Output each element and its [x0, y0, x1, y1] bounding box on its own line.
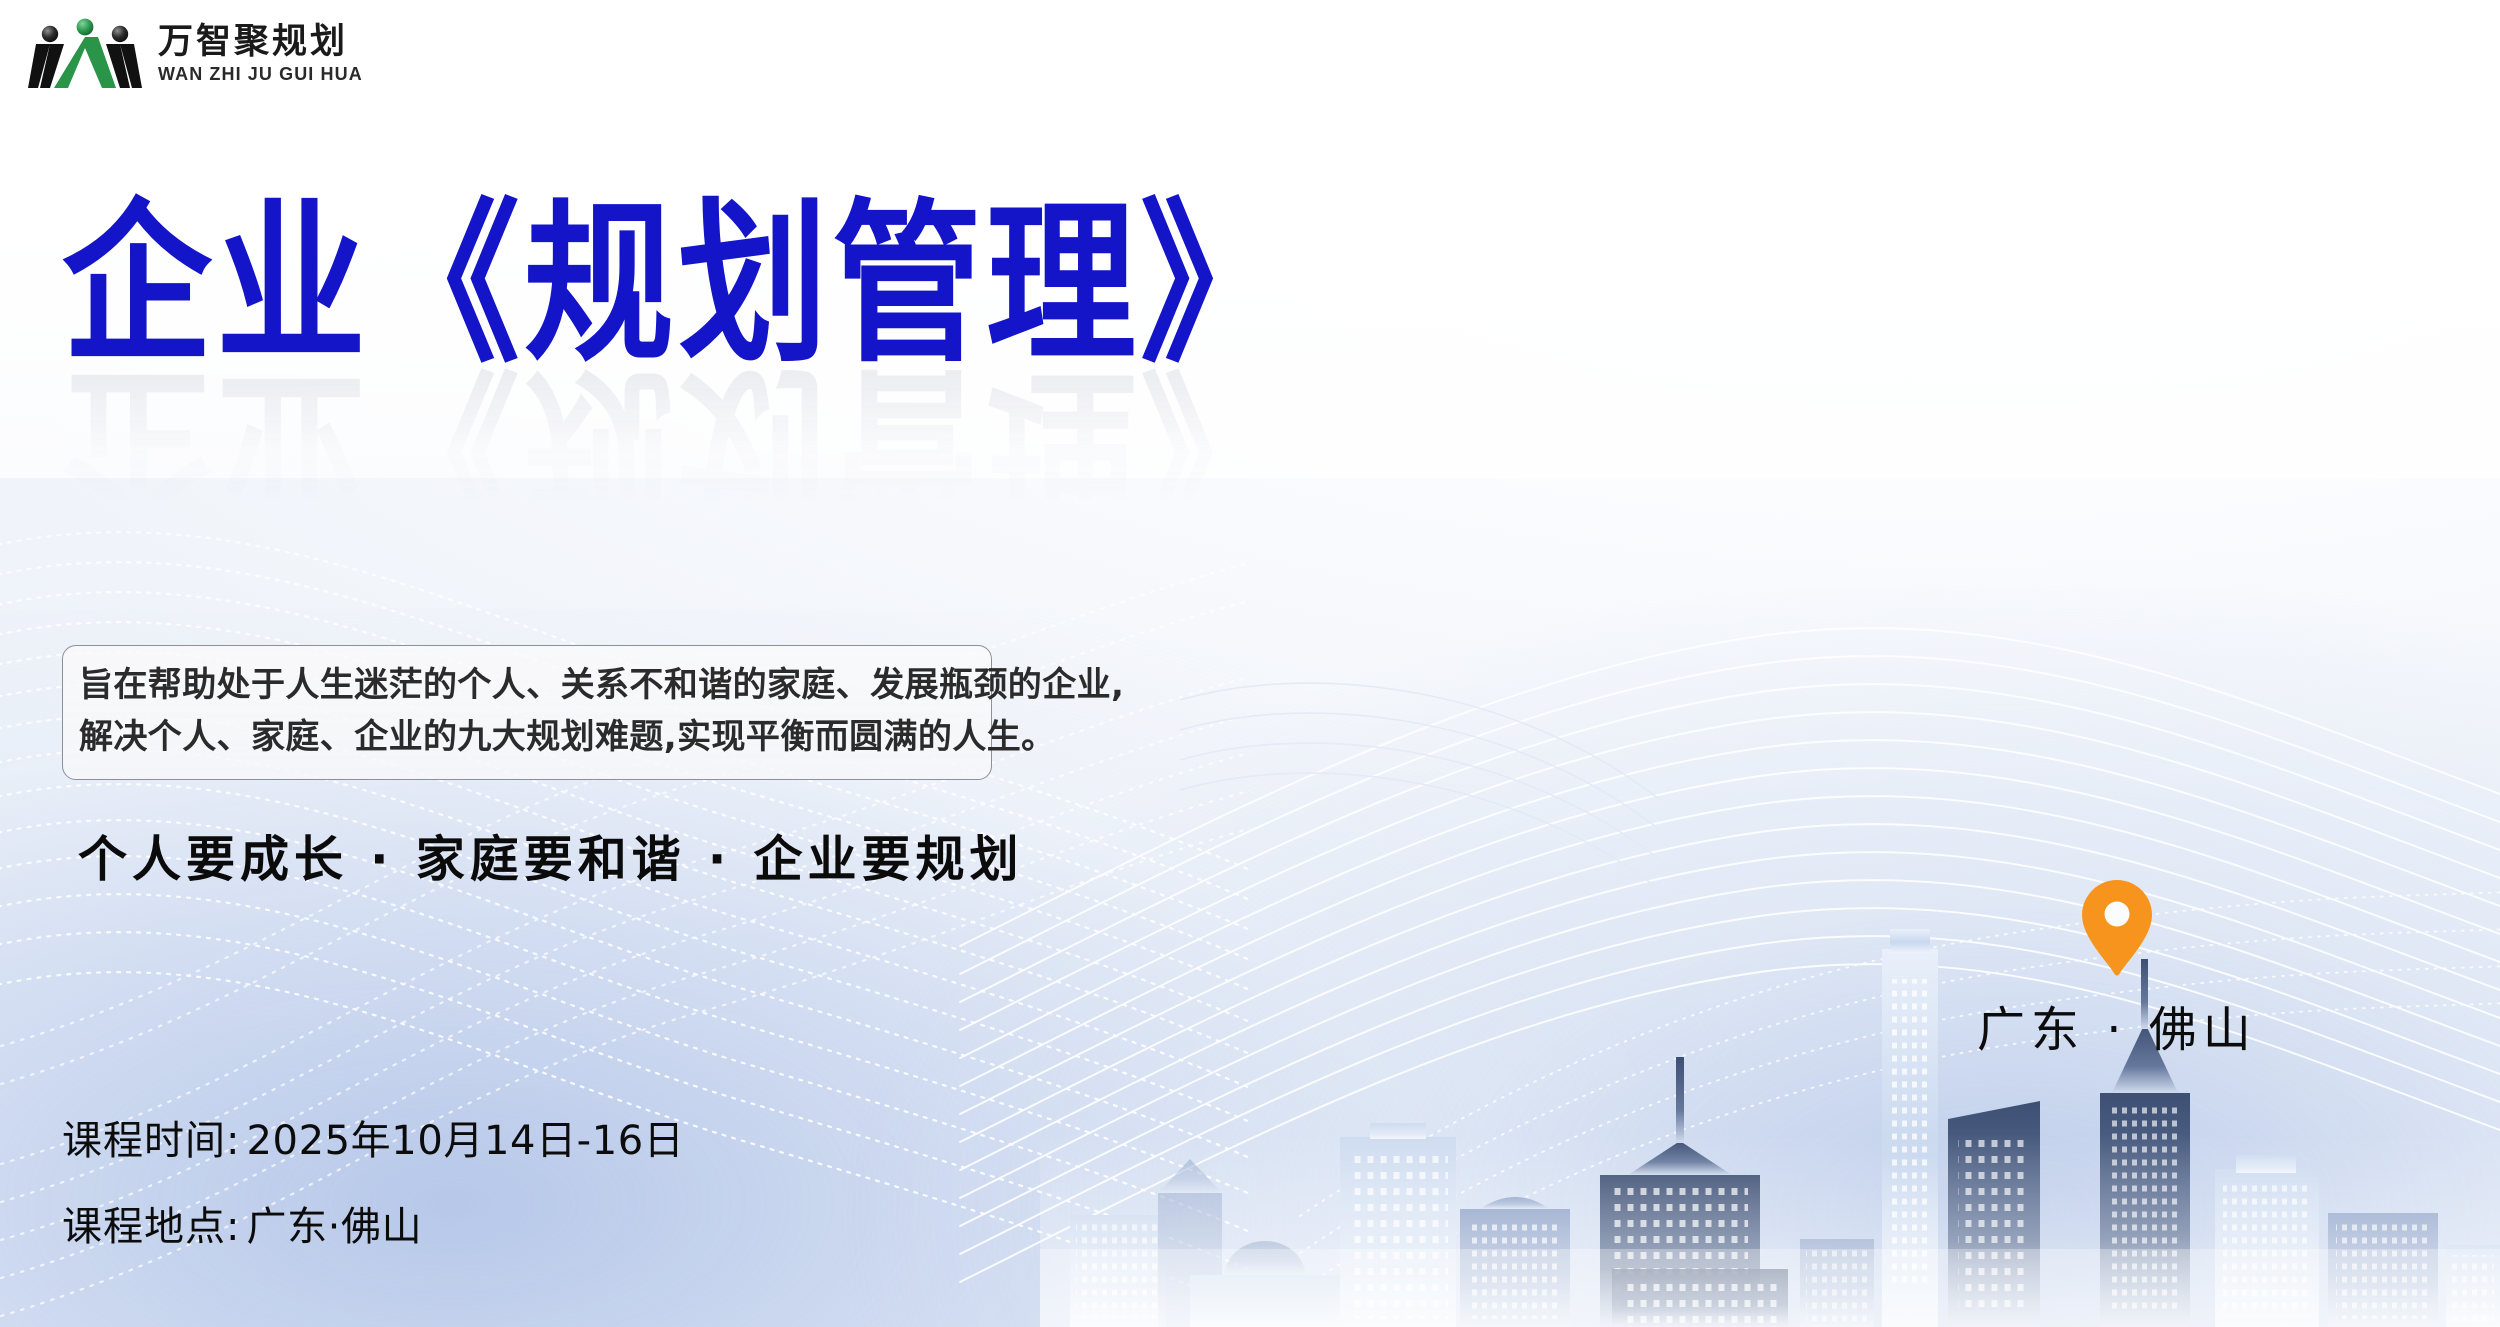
description-box: 旨在帮助处于人生迷茫的个人、关系不和谐的家庭、发展瓶颈的企业, 解决个人、家庭、… — [62, 645, 992, 780]
course-time-row: 课程时间: 2025年10月14日-16日 — [62, 1108, 684, 1166]
brand-wordmark: 万智聚规划 WAN ZHI JU GUI HUA — [158, 19, 363, 86]
course-place-row: 课程地点: 广东·佛山 — [62, 1194, 684, 1252]
course-place-value: 广东·佛山 — [246, 1194, 422, 1252]
description-line-1: 旨在帮助处于人生迷茫的个人、关系不和谐的家庭、发展瓶颈的企业, — [79, 660, 975, 712]
description-line-2: 解决个人、家庭、企业的九大规划难题,实现平衡而圆满的人生。 — [79, 712, 975, 764]
course-info: 课程时间: 2025年10月14日-16日 课程地点: 广东·佛山 — [62, 1108, 684, 1252]
course-place-label: 课程地点: — [62, 1194, 240, 1252]
course-time-value: 2025年10月14日-16日 — [246, 1108, 684, 1166]
brand-logo[interactable]: 万智聚规划 WAN ZHI JU GUI HUA — [26, 14, 363, 92]
page-title-reflection: 企业《规划管理》 — [62, 358, 1294, 535]
three-people-group-icon — [26, 14, 144, 92]
tagline: 个人要成长 · 家庭要和谐 · 企业要规划 — [78, 820, 1023, 891]
poster-canvas: 万智聚规划 WAN ZHI JU GUI HUA 企业《规划管理》 企业《规划管… — [0, 0, 2500, 1327]
course-time-label: 课程时间: — [62, 1108, 240, 1166]
page-title: 企业《规划管理》 — [62, 196, 1294, 373]
brand-name-cn: 万智聚规划 — [158, 23, 363, 60]
location-label: 广东 · 佛山 — [1977, 990, 2257, 1060]
brand-name-pinyin: WAN ZHI JU GUI HUA — [158, 63, 363, 86]
map-pin-icon — [2082, 880, 2152, 976]
location-marker: 广东 · 佛山 — [1977, 880, 2257, 1060]
hero-title-block: 企业《规划管理》 企业《规划管理》 — [62, 196, 1294, 688]
